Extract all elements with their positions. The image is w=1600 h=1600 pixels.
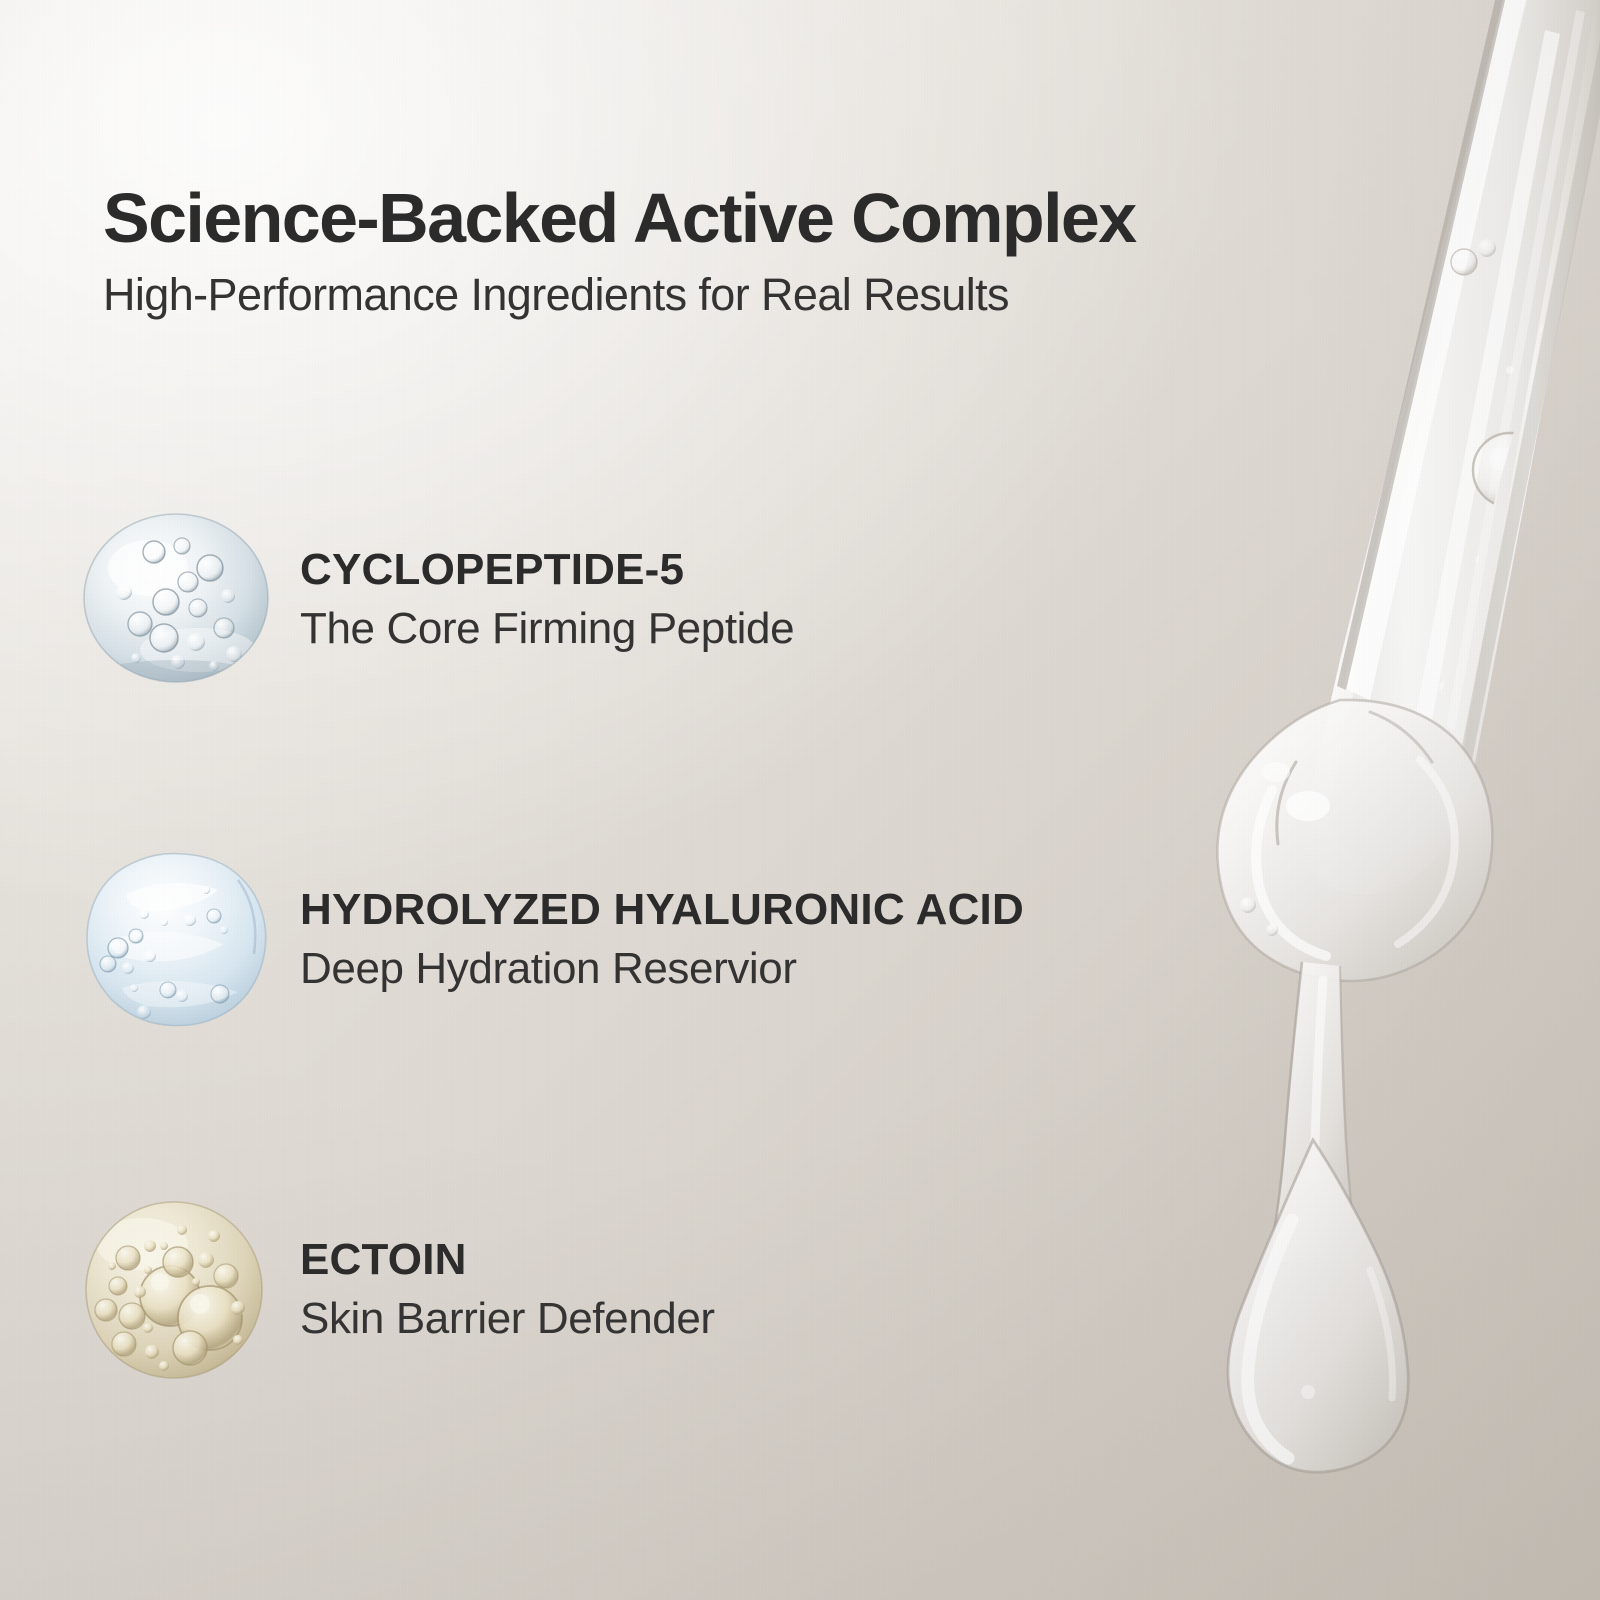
promo-graphic-canvas: Science-Backed Active Complex High-Perfo…	[0, 0, 1600, 1600]
ingredient-item-cyclopeptide-5: CYCLOPEPTIDE-5 The Core Firming Peptide	[78, 505, 1128, 695]
ingredient-description: Deep Hydration Reservior	[300, 946, 1128, 992]
serum-gel-bulb	[1217, 700, 1492, 981]
ingredient-item-ectoin: ECTOIN Skin Barrier Defender	[78, 1195, 1128, 1385]
clear-water-sphere-icon	[78, 510, 274, 690]
serum-stream	[1268, 962, 1358, 1262]
ingredient-text: CYCLOPEPTIDE-5 The Core Firming Peptide	[300, 548, 1128, 652]
blue-gel-blob-icon	[78, 850, 274, 1030]
header-block: Science-Backed Active Complex High-Perfo…	[103, 183, 1403, 317]
ingredient-text: ECTOIN Skin Barrier Defender	[300, 1238, 1128, 1342]
ingredient-description: The Core Firming Peptide	[300, 606, 1128, 652]
golden-bubble-sphere-icon	[78, 1200, 274, 1380]
serum-bubbles	[1430, 239, 1600, 750]
pipette-tube	[1298, 0, 1600, 894]
ingredient-item-hydrolyzed-hyaluronic-acid: HYDROLYZED HYALURONIC ACID Deep Hydratio…	[78, 845, 1128, 1035]
page-title: Science-Backed Active Complex	[103, 183, 1403, 253]
page-subtitle: High-Performance Ingredients for Real Re…	[103, 272, 1403, 317]
ingredient-name: ECTOIN	[300, 1238, 1128, 1282]
serum-droplet	[1228, 1140, 1408, 1472]
ingredient-name: HYDROLYZED HYALURONIC ACID	[300, 888, 1128, 932]
ingredient-name: CYCLOPEPTIDE-5	[300, 548, 1128, 592]
ingredient-text: HYDROLYZED HYALURONIC ACID Deep Hydratio…	[300, 888, 1128, 992]
ingredient-description: Skin Barrier Defender	[300, 1296, 1128, 1342]
